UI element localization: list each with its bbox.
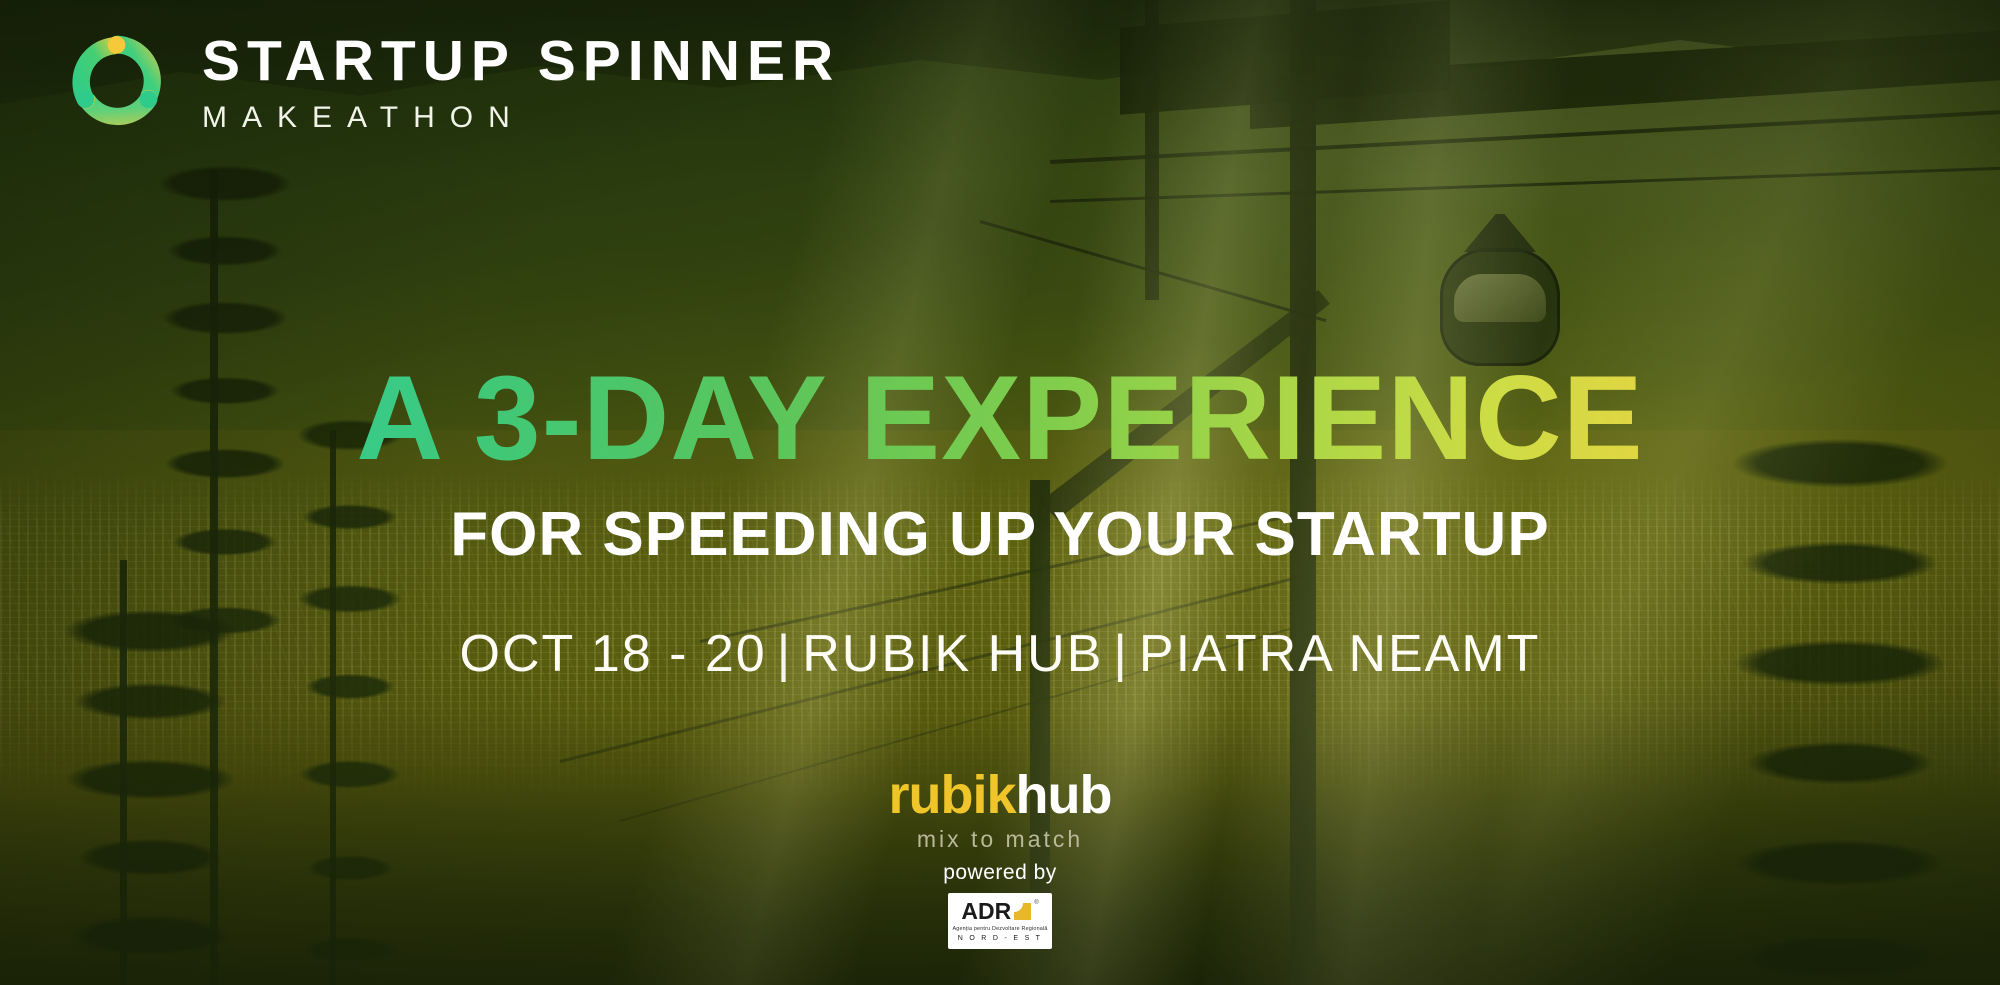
- adr-logo: ADR ® Agenția pentru Dezvoltare Regional…: [948, 893, 1052, 949]
- adr-region: N O R D - E S T: [958, 935, 1043, 943]
- hero-event-details: OCT 18 - 20|RUBIK HUB|PIATRA NEAMT: [0, 628, 2000, 680]
- event-venue: RUBIK HUB: [802, 625, 1103, 683]
- registered-mark: ®: [1034, 900, 1038, 906]
- organizer-wordmark: rubikhub: [0, 768, 2000, 822]
- hero-copy: A 3-DAY EXPERIENCE FOR SPEEDING UP YOUR …: [0, 358, 2000, 680]
- detail-separator: |: [1103, 625, 1139, 683]
- adr-full-name: Agenția pentru Dezvoltare Regională: [952, 926, 1047, 932]
- event-dates: OCT 18 - 20: [460, 625, 767, 683]
- event-promo-banner: STARTUP SPINNER MAKEATHON A 3-DAY EXPERI…: [0, 0, 2000, 985]
- spinner-circle-icon: [58, 22, 176, 140]
- adr-acronym: ADR: [961, 900, 1011, 923]
- hero-headline: A 3-DAY EXPERIENCE: [0, 358, 2000, 478]
- brand-title: STARTUP SPINNER: [202, 33, 840, 90]
- event-city: PIATRA NEAMT: [1139, 625, 1541, 683]
- adr-logo-top: ADR ®: [961, 900, 1038, 923]
- organizer-logo: rubikhub mix to match: [0, 768, 2000, 851]
- sponsor-block: powered by ADR ® Agenția pentru Dezvolta…: [0, 862, 2000, 949]
- powered-by-label: powered by: [0, 862, 2000, 883]
- brand-subtitle: MAKEATHON: [202, 103, 840, 133]
- organizer-name-part2: hub: [1016, 765, 1112, 825]
- organizer-name-part1: rubik: [889, 765, 1016, 825]
- organizer-tagline: mix to match: [0, 828, 2000, 851]
- adr-square-icon: [1014, 903, 1031, 920]
- hero-subheadline: FOR SPEEDING UP YOUR STARTUP: [0, 504, 2000, 566]
- detail-separator: |: [767, 625, 803, 683]
- brand-lockup: STARTUP SPINNER MAKEATHON: [58, 22, 840, 140]
